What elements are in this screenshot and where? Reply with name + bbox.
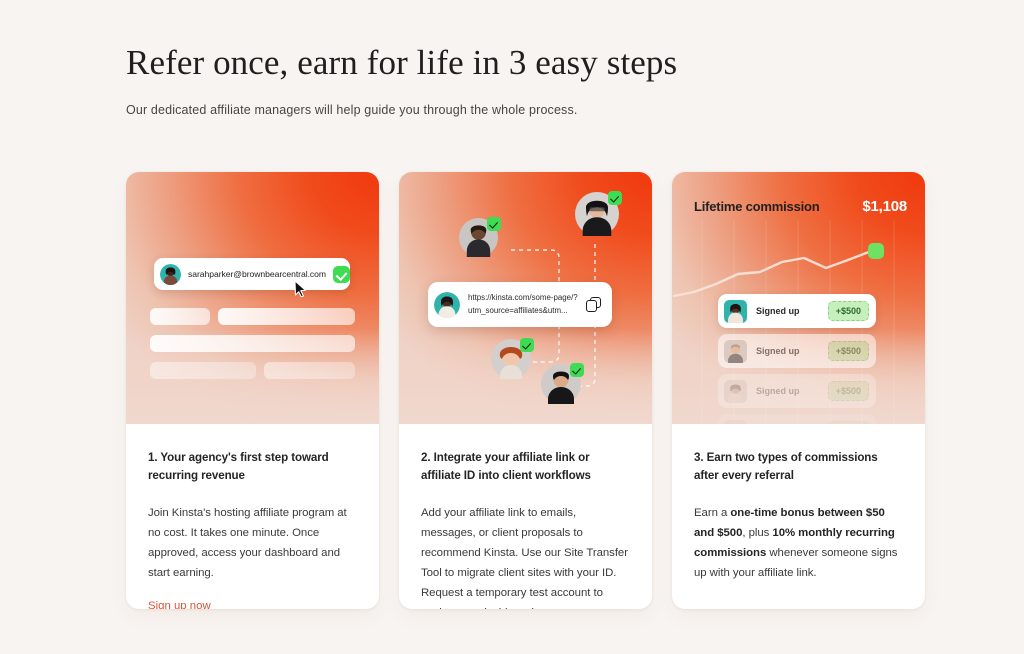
- step-2-body: 2. Integrate your affiliate link or affi…: [399, 424, 652, 609]
- check-icon: [608, 191, 622, 205]
- chart-endpoint-dot-icon: [868, 243, 884, 259]
- step-card-3: Lifetime commission $1,108: [672, 172, 925, 609]
- step-card-1: sarahparker@brownbearcentral.com 1. Your…: [126, 172, 379, 609]
- page-title: Refer once, earn for life in 3 easy step…: [126, 44, 686, 82]
- avatar-signup-4-icon: [724, 420, 747, 425]
- skeleton-bar: [150, 362, 256, 379]
- skeleton-bar: [218, 308, 355, 325]
- commission-label: Lifetime commission: [694, 199, 820, 214]
- step-1-illustration: sarahparker@brownbearcentral.com: [126, 172, 379, 424]
- signup-amount: +$500: [828, 421, 869, 424]
- check-icon: [487, 217, 501, 231]
- avatar-signup-2-icon: [724, 340, 747, 363]
- signup-row[interactable]: Signed up +$500: [718, 294, 876, 328]
- steps-card-grid: sarahparker@brownbearcentral.com 1. Your…: [126, 172, 925, 609]
- page-subtitle: Our dedicated affiliate managers will he…: [126, 103, 686, 117]
- signup-label: Signed up: [756, 346, 819, 356]
- step-description: Add your affiliate link to emails, messa…: [421, 503, 630, 609]
- signup-row[interactable]: Signed up +$500: [718, 374, 876, 408]
- signup-label: Signed up: [756, 306, 819, 316]
- signup-row[interactable]: Signed up +$500: [718, 334, 876, 368]
- step-3-body: 3. Earn two types of commissions after e…: [672, 424, 925, 609]
- copy-icon[interactable]: [586, 297, 602, 313]
- check-icon: [333, 266, 350, 283]
- signup-amount: +$500: [828, 381, 869, 401]
- affiliate-steps-page: Refer once, earn for life in 3 easy step…: [0, 0, 1024, 654]
- signup-amount: +$500: [828, 341, 869, 361]
- step-card-2: https://kinsta.com/some-page/?utm_source…: [399, 172, 652, 609]
- skeleton-bar: [264, 362, 355, 379]
- signup-row[interactable]: Signed up +$500: [718, 414, 876, 424]
- step-description: Earn a one-time bonus between $50 and $5…: [694, 503, 903, 583]
- commission-value: $1,108: [862, 198, 907, 215]
- step-title: 2. Integrate your affiliate link or affi…: [421, 449, 630, 486]
- skeleton-bar: [150, 335, 355, 352]
- avatar-network-3: [491, 339, 531, 379]
- avatar-network-2: [575, 192, 619, 236]
- step-title: 3. Earn two types of commissions after e…: [694, 449, 903, 486]
- skeleton-bar: [150, 308, 210, 325]
- step-2-illustration: https://kinsta.com/some-page/?utm_source…: [399, 172, 652, 424]
- step-3-illustration: Lifetime commission $1,108: [672, 172, 925, 424]
- avatar-link-owner-icon: [434, 292, 460, 318]
- affiliate-link-card[interactable]: https://kinsta.com/some-page/?utm_source…: [428, 282, 612, 327]
- step-title: 1. Your agency's first step toward recur…: [148, 449, 357, 486]
- avatar-sarah-icon: [160, 264, 181, 285]
- signup-amount: +$500: [828, 301, 869, 321]
- commission-header: Lifetime commission $1,108: [694, 198, 907, 215]
- avatar-signup-3-icon: [724, 380, 747, 403]
- signup-list: Signed up +$500 Signed up: [718, 294, 876, 424]
- page-header: Refer once, earn for life in 3 easy step…: [126, 44, 686, 117]
- check-icon: [570, 363, 584, 377]
- step-description: Join Kinsta's hosting affiliate program …: [148, 503, 357, 583]
- signup-label: Signed up: [756, 386, 819, 396]
- email-text: sarahparker@brownbearcentral.com: [188, 269, 326, 279]
- email-capture-row[interactable]: sarahparker@brownbearcentral.com: [154, 258, 350, 290]
- avatar-signup-1-icon: [724, 300, 747, 323]
- cursor-arrow-icon: [294, 280, 307, 302]
- avatar-network-4: [541, 364, 581, 404]
- avatar-network-1: [459, 218, 498, 257]
- affiliate-url-text: https://kinsta.com/some-page/?utm_source…: [468, 292, 578, 317]
- step-1-body: 1. Your agency's first step toward recur…: [126, 424, 379, 609]
- sign-up-now-link[interactable]: Sign up now: [148, 600, 211, 609]
- check-icon: [520, 338, 534, 352]
